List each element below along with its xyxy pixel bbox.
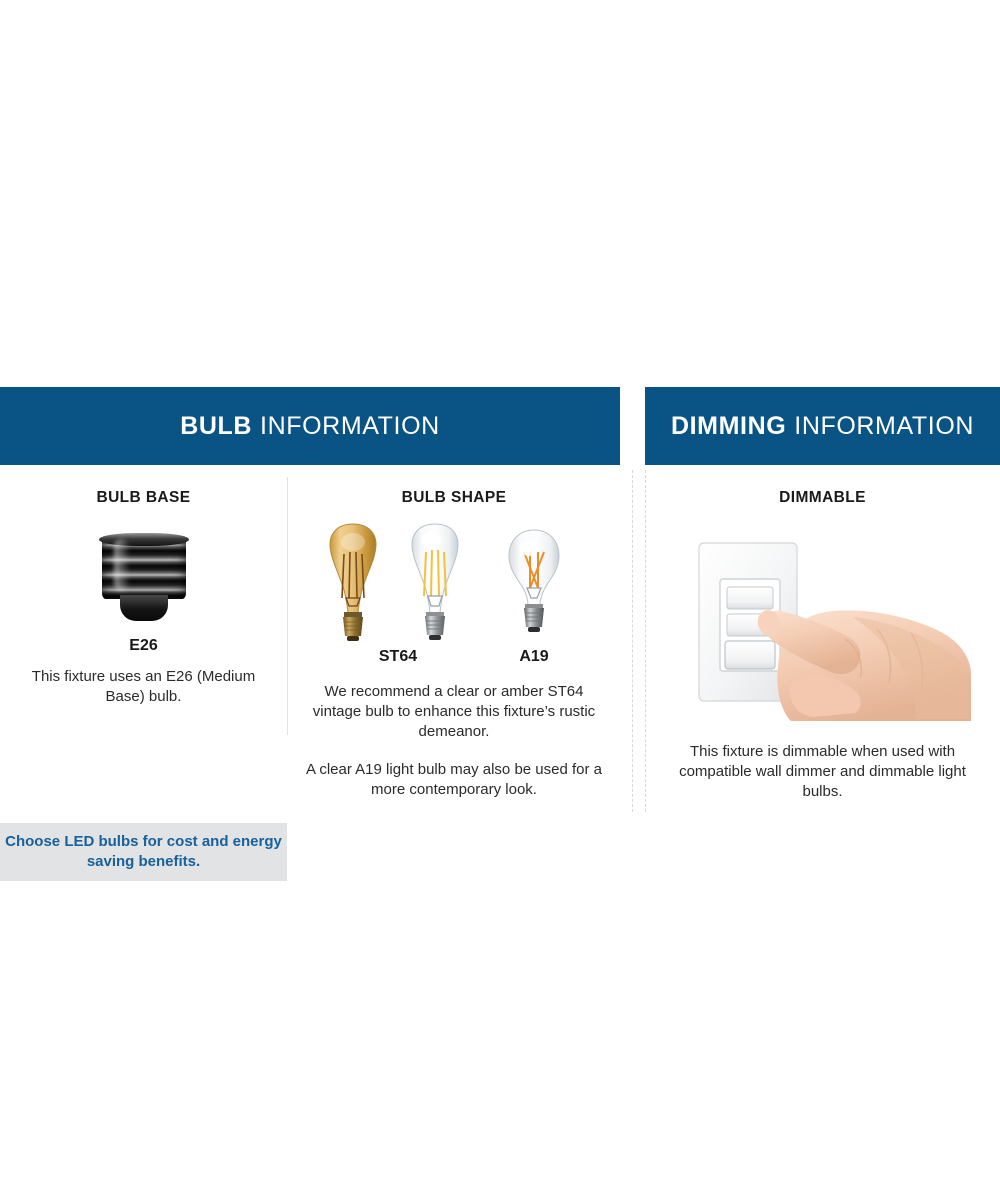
bulb-information-body: BULB BASE E26 This fixture uses an E26 (… [0, 465, 620, 815]
amber-st64-bulb-icon [316, 520, 390, 644]
e26-highlight [114, 539, 130, 591]
bulb-header-strong: BULB [180, 412, 252, 441]
bulb-and-dimming-information-sheet: BULB INFORMATION BULB BASE E26 This fixt… [0, 0, 1000, 1200]
bulb-header-light: INFORMATION [260, 412, 440, 441]
dimmable-title: DIMMABLE [645, 489, 1000, 507]
e26-screw-base-icon [94, 531, 194, 631]
bulb-shape-labels: ST64 A19 [288, 648, 620, 674]
dimming-information-panel: DIMMING INFORMATION DIMMABLE [645, 387, 1000, 802]
hand-pressing-wall-dimmer-switch-icon [663, 521, 983, 726]
bulb-information-panel: BULB INFORMATION BULB BASE E26 This fixt… [0, 387, 620, 815]
bulb-shape-label-a19: A19 [484, 648, 584, 666]
e26-collar [99, 533, 189, 546]
e26-tip [120, 595, 168, 621]
bulb-shape-label-st64: ST64 [348, 648, 448, 666]
bulb-shape-title: BULB SHAPE [288, 489, 620, 507]
bulb-base-description: This fixture uses an E26 (Medium Base) b… [0, 667, 287, 707]
bulb-shape-images [288, 519, 620, 644]
bulb-base-title: BULB BASE [0, 489, 287, 507]
led-bulb-callout: Choose LED bulbs for cost and energy sav… [0, 823, 287, 881]
bulb-shape-column: BULB SHAPE [288, 465, 620, 800]
dimming-header-strong: DIMMING [671, 412, 786, 441]
dimmable-description: This fixture is dimmable when used with … [645, 742, 1000, 802]
dimming-information-body: DIMMABLE [645, 489, 1000, 802]
clear-a19-bulb-icon [500, 526, 568, 640]
bulb-shape-paragraph-1: We recommend a clear or amber ST64 vinta… [288, 682, 620, 742]
bulb-shape-paragraph-2: A clear A19 light bulb may also be used … [288, 760, 620, 800]
panel-dashed-divider-left [632, 470, 633, 812]
dimming-header-light: INFORMATION [794, 412, 974, 441]
clear-st64-bulb-icon [398, 520, 472, 644]
bulb-base-label: E26 [0, 637, 287, 655]
bulb-base-column: BULB BASE E26 This fixture uses an E26 (… [0, 465, 287, 707]
led-bulb-callout-text: Choose LED bulbs for cost and energy sav… [0, 832, 287, 872]
dimming-information-header: DIMMING INFORMATION [645, 387, 1000, 465]
bulb-information-header: BULB INFORMATION [0, 387, 620, 465]
